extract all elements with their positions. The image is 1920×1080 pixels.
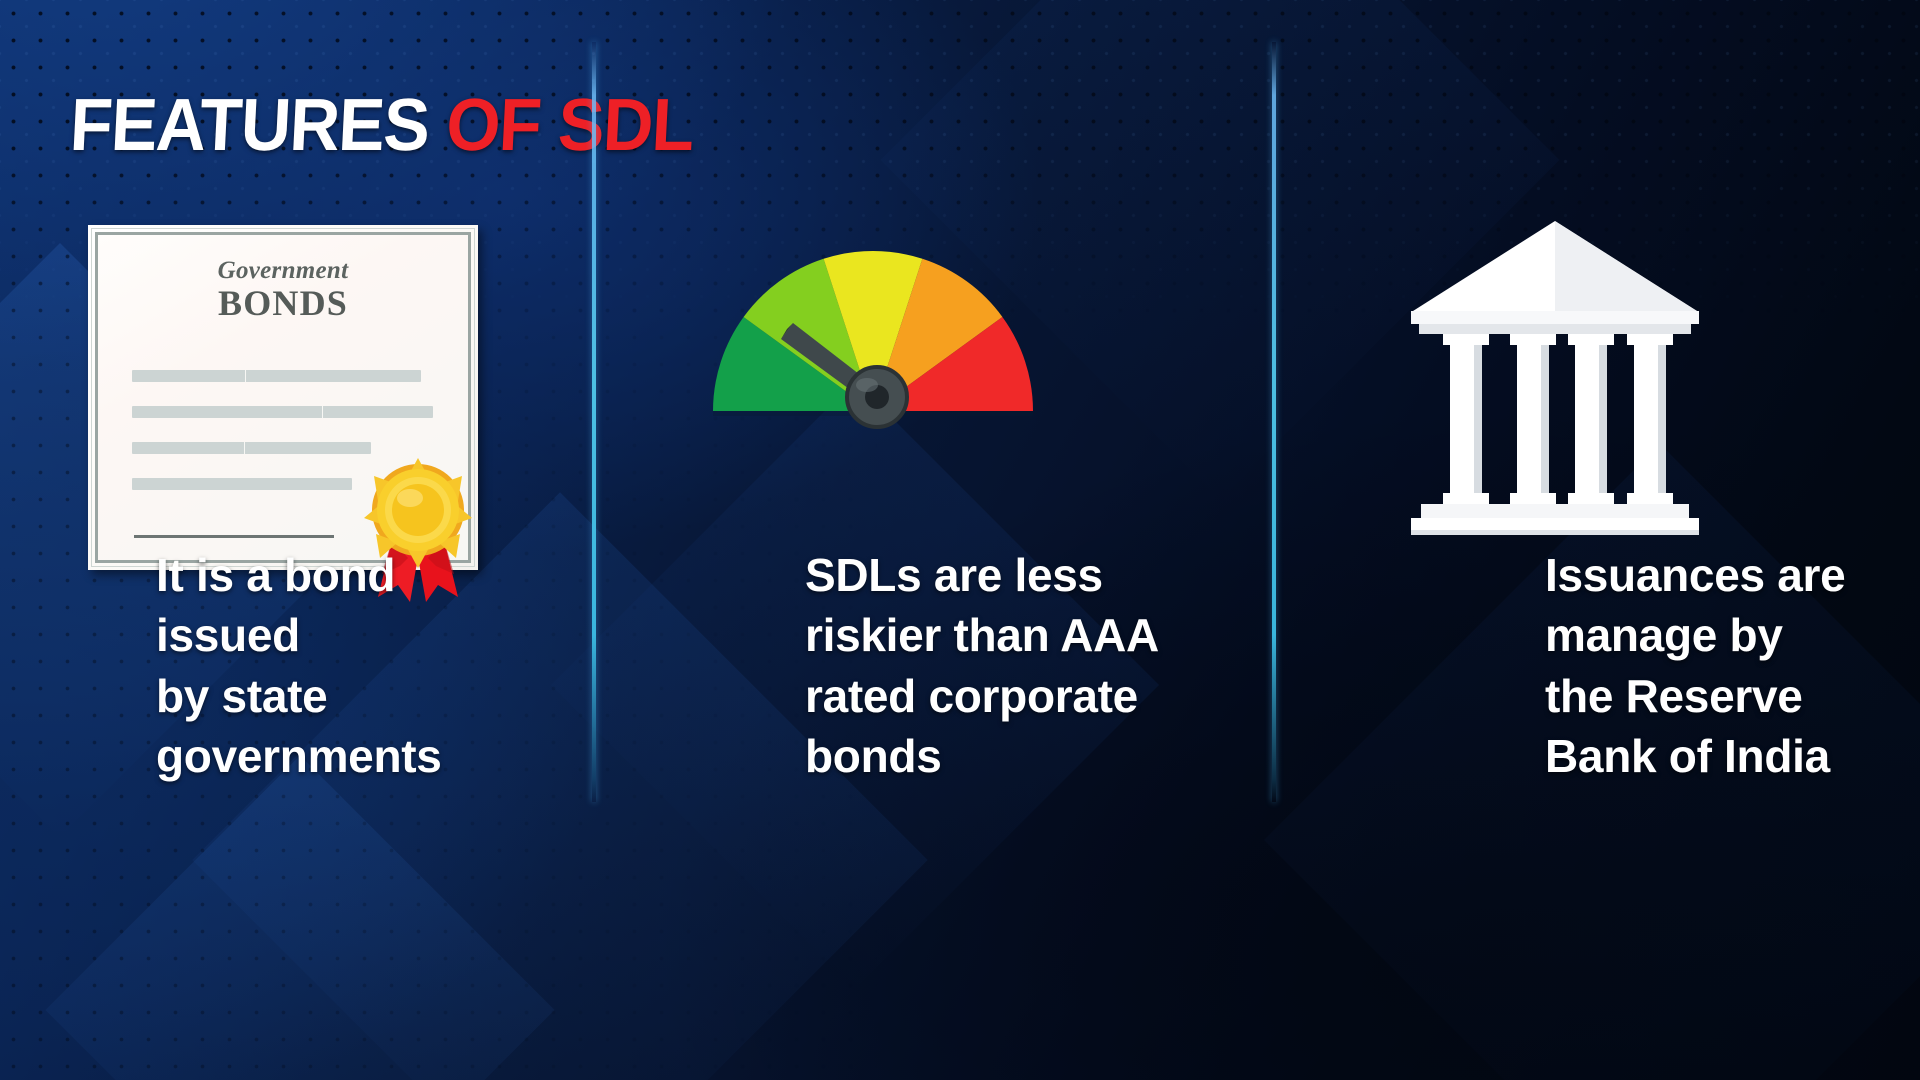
- caption-line: the Reserve: [1545, 666, 1920, 726]
- caption-line: rated corporate: [805, 666, 1265, 726]
- gauge-icon-area: [695, 215, 1265, 545]
- certificate-heading-script: Government: [98, 257, 468, 285]
- infographic-frame: FEATURES OF SDL Government BONDS: [0, 0, 1920, 1080]
- government-bond-certificate-icon: Government BONDS: [88, 225, 478, 570]
- certificate-line: [132, 442, 371, 454]
- caption-line: It is a bond: [156, 545, 585, 605]
- feature-caption-rbi: Issuances are manage by the Reserve Bank…: [1405, 545, 1920, 786]
- certificate-heading: Government BONDS: [98, 235, 468, 324]
- bank-building-icon: [1405, 215, 1705, 545]
- title-part-red: OF SDL: [445, 83, 696, 166]
- feature-column-rbi: Issuances are manage by the Reserve Bank…: [1265, 215, 1920, 1065]
- feature-column-bond-issued: Government BONDS: [0, 215, 585, 1065]
- page-title: FEATURES OF SDL: [68, 88, 695, 162]
- certificate-signature-line: [134, 535, 334, 538]
- certificate-line: [132, 406, 433, 418]
- bank-icon-area: [1405, 215, 1920, 545]
- feature-caption-risk: SDLs are less riskier than AAA rated cor…: [695, 545, 1265, 786]
- feature-columns: Government BONDS: [0, 215, 1920, 1065]
- caption-line: by state: [156, 666, 585, 726]
- caption-line: governments: [156, 726, 585, 786]
- feature-caption-bond-issued: It is a bond issued by state governments: [78, 545, 585, 786]
- certificate-line: [132, 478, 352, 490]
- title-part-white: FEATURES: [68, 83, 431, 166]
- risk-gauge-icon: [703, 233, 1043, 543]
- caption-line: issued: [156, 605, 585, 665]
- caption-line: bonds: [805, 726, 1265, 786]
- feature-column-risk: SDLs are less riskier than AAA rated cor…: [585, 215, 1265, 1065]
- caption-line: Bank of India: [1545, 726, 1920, 786]
- caption-line: riskier than AAA: [805, 605, 1265, 665]
- certificate-heading-bold: BONDS: [98, 282, 468, 324]
- certificate-icon-area: Government BONDS: [78, 215, 585, 545]
- caption-line: manage by: [1545, 605, 1920, 665]
- caption-line: SDLs are less: [805, 545, 1265, 605]
- certificate-line: [132, 370, 421, 382]
- caption-line: Issuances are: [1545, 545, 1920, 605]
